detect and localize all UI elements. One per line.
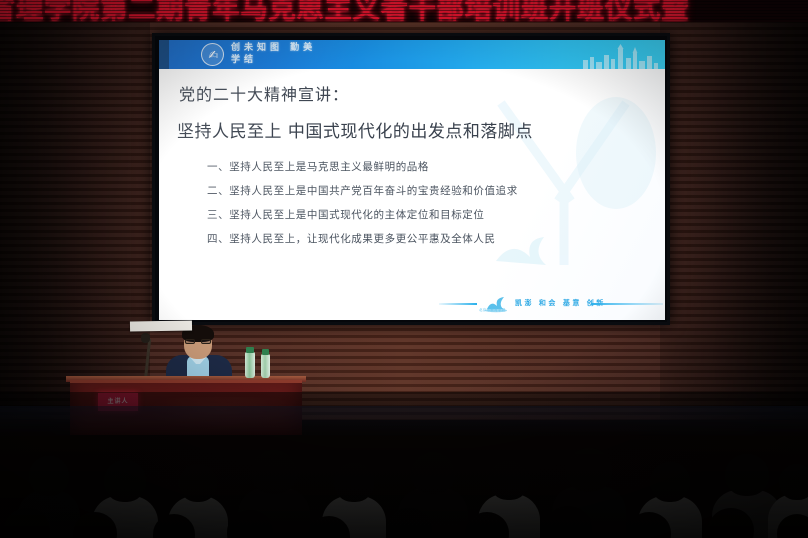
audience-person — [0, 508, 64, 538]
logo-mark-glyph: ✍ — [207, 48, 220, 62]
microphone-icon — [141, 333, 150, 343]
slide-content-area: 党的二十大精神宣讲： 坚持人民至上 中国式现代化的出发点和落脚点 一、坚持人民至… — [159, 69, 665, 320]
audience-person-head — [153, 514, 195, 538]
water-bottle-1-cap — [246, 347, 254, 353]
slide-footer: 北京市教育学院 凯澎 和会 基意 创新 — [159, 292, 665, 314]
footer-rule-left — [439, 303, 477, 305]
audience-person-head — [544, 506, 592, 538]
audience-person — [140, 514, 208, 538]
header-left-accent — [159, 40, 169, 69]
city-skyline-icon — [581, 44, 659, 69]
audience-person-head — [386, 508, 432, 538]
audience-person — [614, 512, 684, 538]
audience-person-head — [308, 516, 350, 538]
audience-person-head — [4, 508, 50, 538]
speaker-glasses-icon — [185, 339, 211, 344]
microphone-stand — [144, 339, 151, 381]
slide-header-bar: ✍ 创未知图 勤美学结 — [159, 40, 665, 69]
slide-bullet-4: 四、坚持人民至上，让现代化成果更多更公平惠及全体人民 — [207, 231, 496, 246]
footer-logo-caption: 北京市教育学院 — [479, 307, 506, 312]
podium-papers — [130, 320, 192, 331]
audience-person — [766, 514, 808, 538]
lecture-hall-photo: 省理学院第二期青年马克思主义者干部培训班开班仪式暨 ✍ 创未知图 勤美学结 — [0, 0, 808, 538]
audience-person — [214, 510, 286, 538]
audience-person — [60, 512, 130, 538]
audience-row-front — [0, 454, 808, 538]
presentation-slide: ✍ 创未知图 勤美学结 — [159, 40, 665, 320]
audience-person — [296, 516, 362, 538]
glasses-lens-right — [201, 339, 211, 344]
water-bottle-1 — [245, 352, 255, 378]
audience-person — [452, 512, 522, 538]
institution-logo-text: 创未知图 勤美学结 — [231, 42, 321, 68]
slide-title: 党的二十大精神宣讲： — [179, 81, 349, 105]
projector-screen: ✍ 创未知图 勤美学结 — [152, 33, 670, 325]
audience-person-head — [73, 512, 117, 538]
audience-person — [372, 508, 446, 538]
slide-subtitle: 坚持人民至上 中国式现代化的出发点和落脚点 — [177, 117, 533, 142]
audience-person-head — [627, 512, 671, 538]
led-banner: 省理学院第二期青年马克思主义者干部培训班开班仪式暨 — [0, 0, 808, 22]
audience-person-head — [465, 512, 509, 538]
audience-person-head — [777, 514, 808, 538]
slide-bullet-1: 一、坚持人民至上是马克思主义最鲜明的品格 — [207, 159, 429, 174]
water-bottle-2-cap — [262, 349, 269, 355]
audience-area — [0, 392, 808, 538]
audience-person-head — [227, 510, 273, 538]
audience-person — [694, 508, 768, 538]
slide-bullet-3: 三、坚持人民至上是中国式现代化的主体定位和目标定位 — [207, 207, 485, 222]
led-banner-text: 省理学院第二期青年马克思主义者干部培训班开班仪式暨 — [0, 0, 808, 22]
institution-logo-badge: ✍ — [201, 43, 224, 66]
water-bottle-2 — [261, 354, 270, 378]
glasses-lens-left — [185, 339, 195, 344]
slide-bullet-2: 二、坚持人民至上是中国共产党百年奋斗的宝贵经验和价值追求 — [207, 183, 518, 198]
audience-person — [530, 506, 606, 538]
audience-person-head — [708, 508, 754, 538]
footer-rule-right — [591, 303, 663, 305]
